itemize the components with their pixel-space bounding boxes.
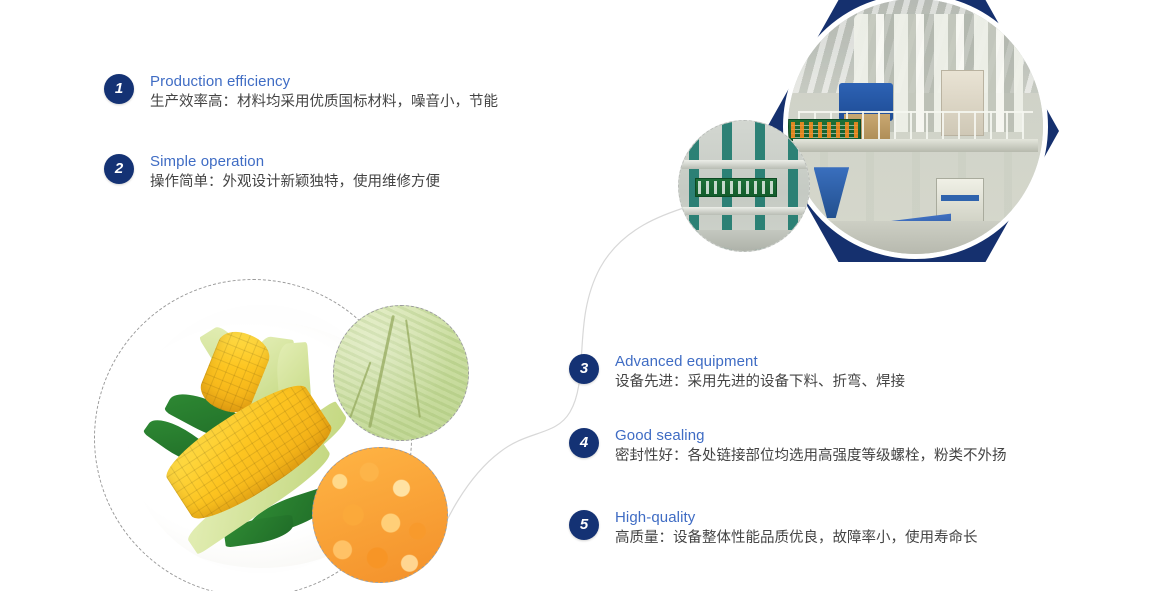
- feature-description-1: 生产效率高：材料均采用优质国标材料，噪音小，节能: [150, 92, 498, 113]
- feature-badge-1: 1: [104, 74, 134, 104]
- feature-item-3[interactable]: 3 Advanced equipment 设备先进：采用先进的设备下料、折弯、焊…: [569, 352, 905, 393]
- flour-mill-plant-photo: [788, 0, 1043, 254]
- feature-item-5[interactable]: 5 High-quality 高质量：设备整体性能品质优良，故障率小，使用寿命长: [569, 508, 978, 549]
- hexagon-photo-group: [660, 0, 1154, 281]
- feature-item-1[interactable]: 1 Production efficiency 生产效率高：材料均采用优质国标材…: [104, 72, 498, 113]
- feature-badge-3: 3: [569, 354, 599, 384]
- feature-description-2: 操作简单：外观设计新颖独特，使用维修方便: [150, 172, 440, 193]
- feature-badge-4: 4: [569, 428, 599, 458]
- main-photo-flour-mill-plant: [788, 0, 1043, 254]
- green-corn-paste-photo: [334, 306, 468, 440]
- product-advantages-infographic: 1 Production efficiency 生产效率高：材料均采用优质国标材…: [0, 0, 1154, 591]
- feature-item-2[interactable]: 2 Simple operation 操作简单：外观设计新颖独特，使用维修方便: [104, 152, 440, 193]
- feature-text-2: Simple operation 操作简单：外观设计新颖独特，使用维修方便: [150, 152, 440, 193]
- feature-heading-5: High-quality: [615, 508, 978, 527]
- feature-badge-2: 2: [104, 154, 134, 184]
- feature-heading-3: Advanced equipment: [615, 352, 905, 371]
- teal-milling-machinery-photo: [679, 121, 809, 251]
- feature-description-3: 设备先进：采用先进的设备下料、折弯、焊接: [615, 372, 905, 393]
- feature-text-1: Production efficiency 生产效率高：材料均采用优质国标材料，…: [150, 72, 498, 113]
- feature-heading-1: Production efficiency: [150, 72, 498, 91]
- feature-item-4[interactable]: 4 Good sealing 密封性好：各处链接部位均选用高强度等级螺栓，粉类不…: [569, 426, 1007, 467]
- green-paste-photo: [333, 305, 469, 441]
- corn-kernel-photo: [312, 447, 448, 583]
- feature-heading-2: Simple operation: [150, 152, 440, 171]
- feature-description-4: 密封性好：各处链接部位均选用高强度等级螺栓，粉类不外扬: [615, 446, 1007, 467]
- feature-description-5: 高质量：设备整体性能品质优良，故障率小，使用寿命长: [615, 528, 978, 549]
- feature-text-4: Good sealing 密封性好：各处链接部位均选用高强度等级螺栓，粉类不外扬: [615, 426, 1007, 467]
- feature-badge-5: 5: [569, 510, 599, 540]
- feature-text-3: Advanced equipment 设备先进：采用先进的设备下料、折弯、焊接: [615, 352, 905, 393]
- small-photo-teal-machinery: [678, 120, 810, 252]
- produce-photo-group: [90, 275, 490, 591]
- corn-kernels-photo: [313, 448, 447, 582]
- feature-text-5: High-quality 高质量：设备整体性能品质优良，故障率小，使用寿命长: [615, 508, 978, 549]
- feature-heading-4: Good sealing: [615, 426, 1007, 445]
